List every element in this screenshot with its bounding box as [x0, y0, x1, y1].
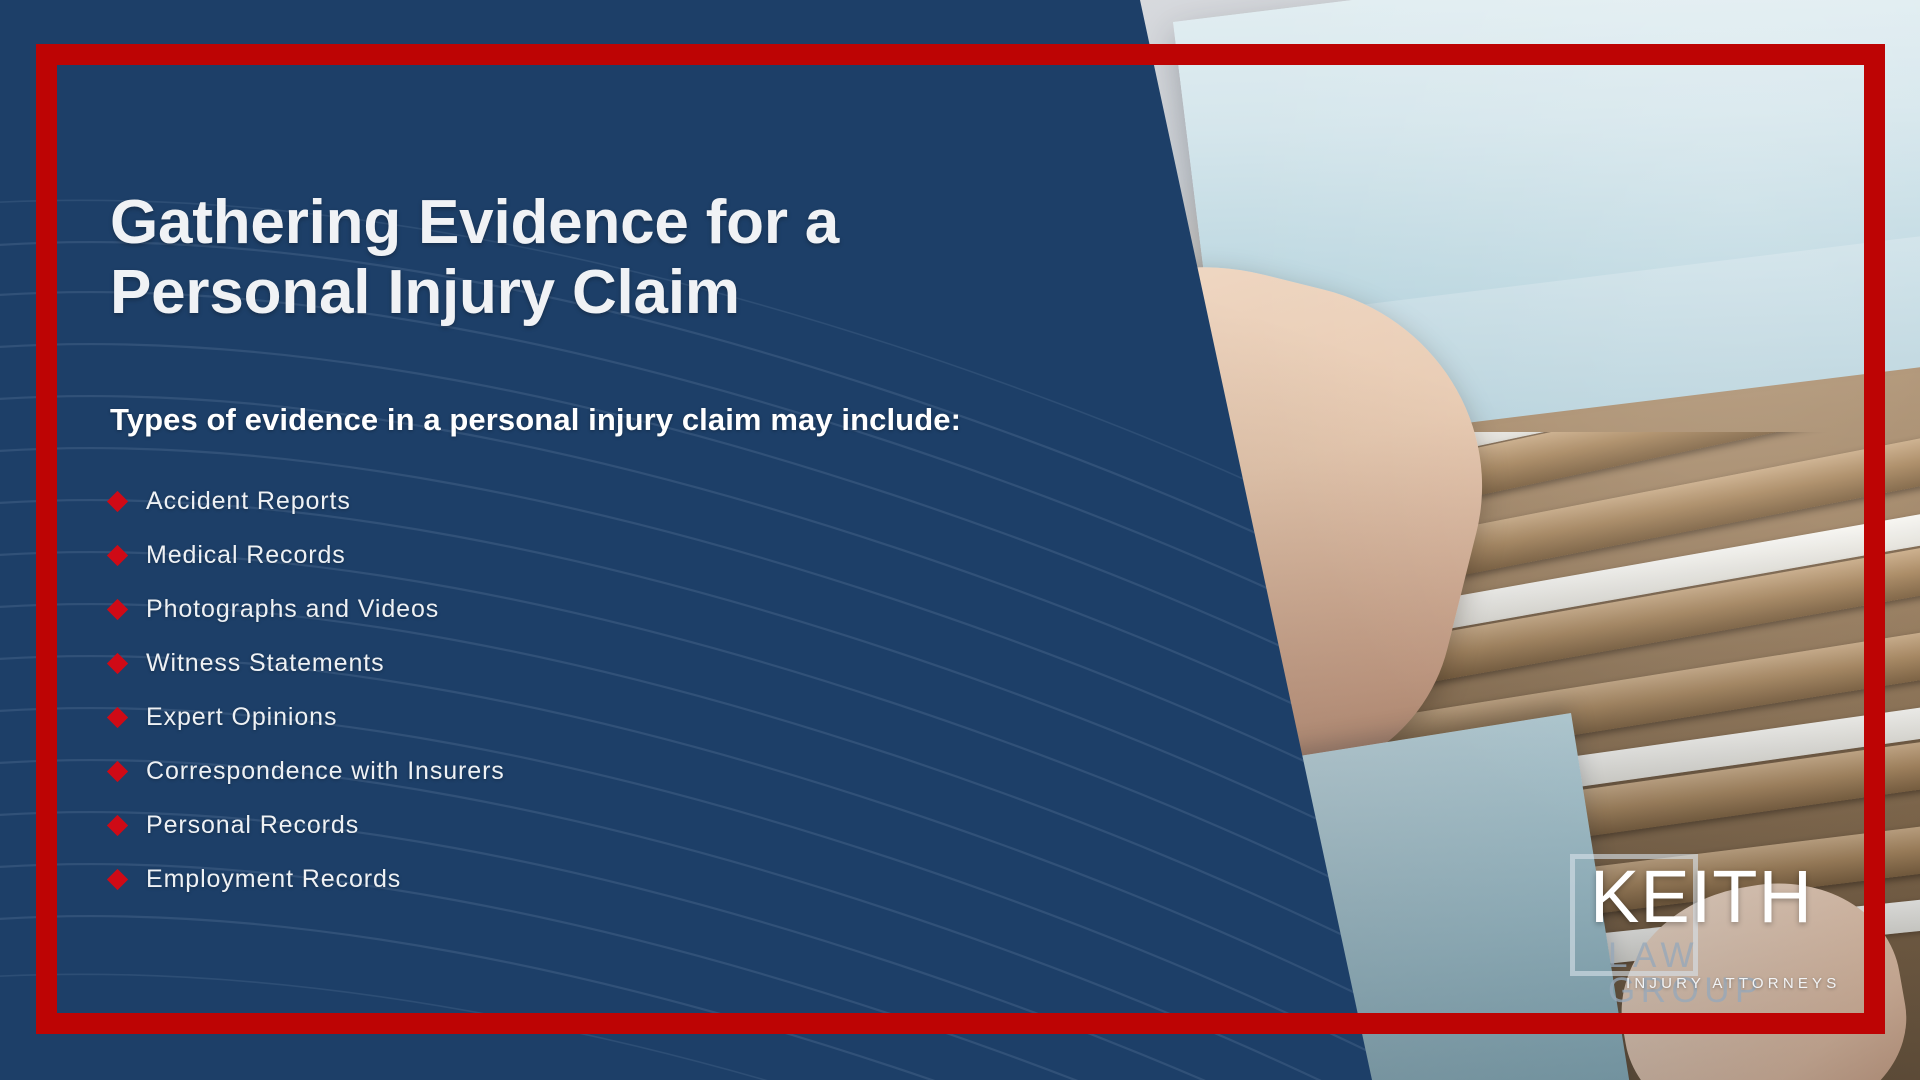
- headline-line-1: Gathering Evidence for a: [110, 188, 839, 257]
- headline-line-2: Personal Injury Claim: [110, 258, 740, 327]
- diamond-bullet-icon: [107, 706, 128, 727]
- infographic-canvas: Gathering Evidence for a Personal Injury…: [0, 0, 1920, 1080]
- diamond-bullet-icon: [107, 490, 128, 511]
- diamond-bullet-icon: [107, 760, 128, 781]
- list-item: Personal Records: [110, 798, 1120, 852]
- evidence-list: Accident Reports Medical Records Photogr…: [110, 474, 1120, 906]
- list-item-label: Witness Statements: [146, 649, 385, 678]
- keith-law-group-logo: KEITH LAW GROUP INJURY ATTORNEYS: [1568, 848, 1858, 998]
- list-item: Employment Records: [110, 852, 1120, 906]
- list-item-label: Personal Records: [146, 811, 359, 840]
- diamond-bullet-icon: [107, 544, 128, 565]
- logo-firm-subtitle: LAW GROUP: [1608, 938, 1858, 1008]
- logo-firm-name: KEITH: [1590, 860, 1813, 934]
- list-item: Accident Reports: [110, 474, 1120, 528]
- page-title: Gathering Evidence for a Personal Injury…: [110, 188, 1120, 328]
- list-item-label: Photographs and Videos: [146, 595, 439, 624]
- list-item: Medical Records: [110, 528, 1120, 582]
- diamond-bullet-icon: [107, 814, 128, 835]
- diamond-bullet-icon: [107, 652, 128, 673]
- list-item: Expert Opinions: [110, 690, 1120, 744]
- diamond-bullet-icon: [107, 868, 128, 889]
- list-item-label: Medical Records: [146, 541, 346, 570]
- list-item-label: Accident Reports: [146, 487, 351, 516]
- list-item-label: Correspondence with Insurers: [146, 757, 505, 786]
- list-item: Witness Statements: [110, 636, 1120, 690]
- list-item: Photographs and Videos: [110, 582, 1120, 636]
- logo-tagline: INJURY ATTORNEYS: [1626, 976, 1840, 991]
- diamond-bullet-icon: [107, 598, 128, 619]
- content-block: Gathering Evidence for a Personal Injury…: [110, 188, 1120, 906]
- list-item-label: Expert Opinions: [146, 703, 337, 732]
- list-item: Correspondence with Insurers: [110, 744, 1120, 798]
- list-item-label: Employment Records: [146, 865, 401, 894]
- subheading: Types of evidence in a personal injury c…: [110, 402, 1120, 438]
